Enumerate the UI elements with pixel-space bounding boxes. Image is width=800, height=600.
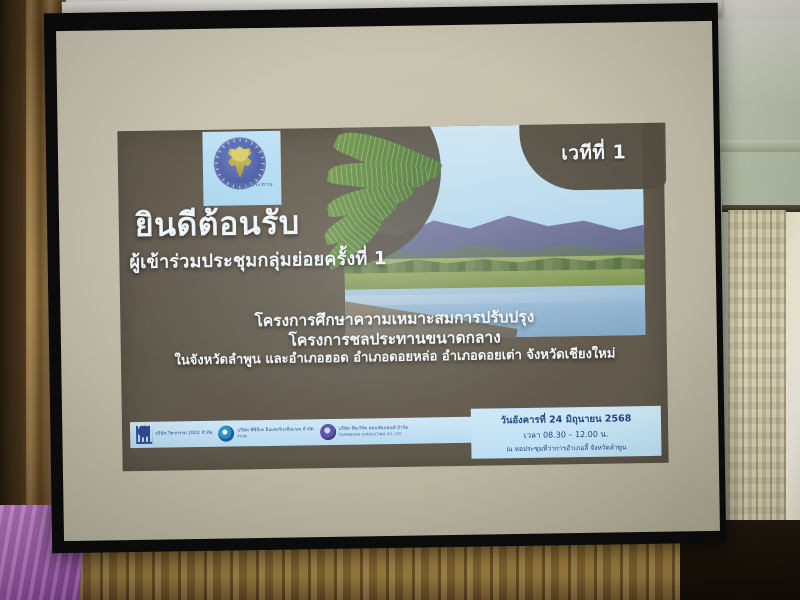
event-venue: ณ หอประชุมที่ว่าการอำเภอลี้ จังหวัดลำพูน xyxy=(506,441,626,454)
royal-irrigation-department-emblem-icon: กรมชลประทาน xyxy=(213,137,270,190)
sponsor-text-group: บริษัท ทีมเวิร์ค คอนซัลแตนท์ จำกัด TEAMW… xyxy=(339,426,409,437)
pcbk-logo-icon xyxy=(218,426,234,442)
event-details-panel: วันอังคารที่ 24 มิถุนายน 2568 เวลา 08.30… xyxy=(471,406,662,459)
sponsor-subtitle: TEAMWORK CONSULTING CO.,LTD. xyxy=(339,432,409,437)
sponsor-bar: บริษัท วิศวกรรม 2002 จำกัด บริษัท พีซีบี… xyxy=(130,417,478,448)
teamwork-logo-icon xyxy=(319,424,335,440)
sponsor-name: บริษัท วิศวกรรม 2002 จำกัด xyxy=(155,431,212,438)
project-title-block: โครงการศึกษาความเหมาะสมการปรับปรุง โครงก… xyxy=(134,305,655,371)
slide-headline: ยินดีต้อนรับ xyxy=(135,205,385,241)
event-time: เวลา 08.30 – 12.00 น. xyxy=(524,427,609,441)
stage-badge-label: เวทีที่ 1 xyxy=(528,137,660,169)
projected-slide: กรมชลประทาน เวทีที่ 1 ยินดีต้อนรับ ผ xyxy=(117,123,668,472)
sponsor-item: บริษัท พีซีบีเค อินเตอร์เนชั่นแนล จำกัด … xyxy=(218,424,313,441)
emblem-caption: กรมชลประทาน xyxy=(216,181,288,190)
pillars-logo-icon xyxy=(136,426,152,444)
sponsor-item: บริษัท ทีมเวิร์ค คอนซัลแตนท์ จำกัด TEAMW… xyxy=(319,423,408,440)
event-date: วันอังคารที่ 24 มิถุนายน 2568 xyxy=(500,411,631,428)
sponsor-text-group: บริษัท พีซีบีเค อินเตอร์เนชั่นแนล จำกัด … xyxy=(237,427,313,438)
room-photo-scene: กรมชลประทาน เวทีที่ 1 ยินดีต้อนรับ ผ xyxy=(0,0,800,600)
left-curtain-shadow xyxy=(0,0,26,560)
right-window-curtain xyxy=(728,210,786,544)
sponsor-item: บริษัท วิศวกรรม 2002 จำกัด xyxy=(136,425,213,444)
sponsor-name: บริษัท พีซีบีเค อินเตอร์เนชั่นแนล จำกัด xyxy=(237,427,313,434)
